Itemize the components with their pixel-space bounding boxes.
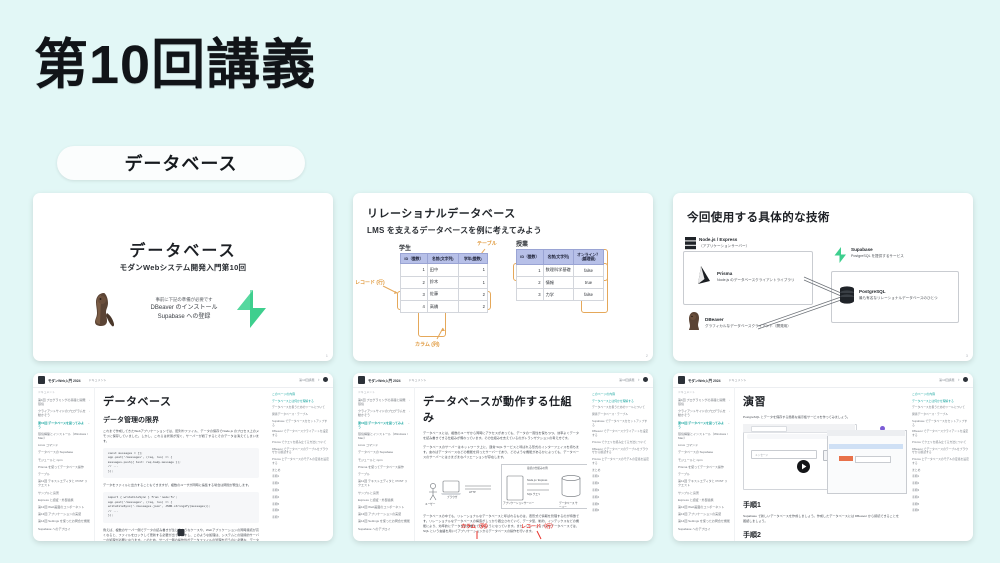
toc-item[interactable]: Supabase でデータベースをセットアップする — [912, 420, 969, 428]
table-row: 3佐藤2 — [401, 288, 488, 300]
doc3-section-title: 手順1 — [743, 500, 899, 510]
toc-item[interactable]: Supabase でデータベースをセットアップする — [272, 420, 329, 428]
slide1-subtitle: モダンWebシステム開発入門第10回 — [33, 262, 333, 273]
toc-item[interactable]: 手順4 — [912, 496, 969, 500]
site-logo-icon — [678, 376, 685, 384]
sidebar-item: データベースの Supabase — [38, 450, 90, 454]
table-course: ID（整数） 名前(文字列) オンライン？(論理値) 1数理科学基礎false … — [516, 249, 604, 301]
toc-item[interactable]: 手順1 — [272, 475, 329, 479]
slide2-title: リレーショナルデータベース — [367, 205, 516, 221]
sidebar-item: 環境構築とインストール（Windows / Mac） — [38, 432, 90, 440]
db-client-cell — [855, 456, 891, 463]
doc3-topbar: モダンWeb入門 2024 ドキュメント — [673, 373, 973, 388]
chevron-down-icon: ⌄ — [87, 421, 90, 429]
sidebar-item: Express と認証・外部連携 — [38, 498, 90, 502]
sidebar-item: Linux コマンド — [678, 443, 730, 447]
sidebar-item: サンプルと演習 — [678, 491, 730, 495]
doc3-h1: 演習 — [743, 393, 899, 409]
slide-overview-page: 第10回講義 データベース データベース モダンWebシステム開発入門第10回 … — [0, 0, 1000, 563]
avatar[interactable] — [963, 377, 968, 382]
toc-item[interactable]: DBeaver でデータベースクライアントを設定する — [912, 430, 969, 438]
doc1-paragraph: データをファイルに出力することもできますが、複数のユーザが同時に編集する場合は問… — [103, 483, 259, 488]
share-icon[interactable]: ⇧ — [957, 378, 960, 382]
toc-heading: このページの内容 — [272, 392, 329, 396]
prisma-logo — [695, 265, 712, 285]
sidebar-item: クライアントサイドのプログラムを動かそう› — [678, 409, 730, 417]
sidebar-item: 第13回 アプリケーションの実装 — [38, 512, 90, 516]
doc1-code-block: const messages = []; app.post('/messages… — [103, 448, 259, 479]
db-client-selected-row — [829, 444, 903, 449]
message-input[interactable]: メッセージ — [751, 450, 817, 459]
doc1-brand: モダンWeb入門 2024 — [48, 378, 81, 383]
toc-item[interactable]: 手順5 — [272, 503, 329, 507]
doc3-section-title: 手順2 — [743, 530, 899, 540]
slide-thumbnail-rdb[interactable]: リレーショナルデータベース LMS を支えるデータベースを例に考えてみよう テー… — [353, 193, 653, 361]
sidebar-item: Prisma を使ってデータベース操作 — [38, 465, 90, 469]
chevron-right-icon: › — [89, 409, 90, 417]
sidebar-item-active: 第10回 データベースを扱ってみよう⌄ — [678, 421, 730, 429]
toc-item[interactable]: 手順4 — [272, 496, 329, 500]
toc-item[interactable]: 手順1 — [912, 475, 969, 479]
browser-tab[interactable] — [751, 426, 787, 433]
sidebar-heading: ドキュメント — [38, 391, 90, 395]
red-annotation-arrows — [353, 373, 653, 541]
supabase-logo — [833, 247, 847, 263]
toc-item[interactable]: 手順7 — [272, 516, 329, 520]
doc1-sidebar[interactable]: ドキュメント 第1回 プログラミングの基礎と開発環境› クライアントサイドのプロ… — [33, 387, 95, 541]
toc-item[interactable]: 手順2 — [912, 482, 969, 486]
doc3-lead: PostgreSQL とデータを保存する簡易な掲示板サービスを作ってみましょう。 — [743, 415, 899, 420]
toc-item[interactable]: 手順2 — [272, 482, 329, 486]
slide-row-bottom: モダンWeb入門 2024 ドキュメント 第10回講義 ⇧ ドキュメント 第1回… — [33, 373, 973, 541]
sidebar-heading: ドキュメント — [678, 391, 730, 395]
sidebar-item: 第11回 テキストエディタと POST リクエスト — [678, 479, 730, 487]
page-title: 第10回講義 — [34, 34, 316, 96]
sidebar-item: テーブル — [38, 472, 90, 476]
site-logo-icon — [38, 376, 45, 384]
table-header-row: ID（整数） 名前(文字列) 学年(整数) — [401, 254, 488, 264]
postgresql-label: PostgreSQL 最も有名なリレーショナルデータベースのひとつ — [859, 289, 957, 301]
annotation-table: テーブル — [477, 240, 497, 247]
doc3-section-body: Supabase で新しいデータベースを作成しましょう。作成したデータベースには… — [743, 514, 899, 524]
sidebar-item: 第14回 Settings を使ったお問合せ機能 — [678, 519, 730, 523]
toc-item[interactable]: DBeaver でデータベースクライアントを設定する — [272, 430, 329, 438]
doc1-main: データベース データ管理の限界 これまで作成してきたWebアプリケーションでは、… — [95, 387, 267, 541]
sidebar-item: Supabase へのデプロイ — [678, 527, 730, 531]
prisma-label: Prisma Node.js のデータベースクライアントライブラリ — [717, 271, 809, 283]
node-express-label: Node.js / Express （アプリケーションサーバー） — [699, 237, 799, 249]
chevron-right-icon: › — [729, 398, 730, 406]
slide1-note-line3: Supabase への登録 — [129, 313, 239, 322]
doc-thumbnail-how-db-works[interactable]: モダンWeb入門 2024 ドキュメント 第10回講義 ⇧ ドキュメント 第1回… — [353, 373, 653, 541]
sidebar-item: 第12回 Web画面のコンポーネント — [678, 505, 730, 509]
beaver-icon — [687, 311, 702, 331]
toc-item[interactable]: Prisma とデータベースのモデルの定義を設定する — [272, 458, 329, 466]
slide3-page-number: 3 — [966, 353, 968, 358]
slide1-title: データベース — [33, 237, 333, 261]
sidebar-item: クライアントサイドのプログラムを動かそう› — [38, 409, 90, 417]
slide-thumbnail-title[interactable]: データベース モダンWebシステム開発入門第10回 事前に下記の準備が必要です … — [33, 193, 333, 361]
toc-item[interactable]: 手順3 — [912, 489, 969, 493]
sidebar-item: 環境構築とインストール（Windows / Mac） — [678, 432, 730, 440]
table-caption-student: 学生 — [399, 243, 411, 252]
slide-thumbnail-tech[interactable]: 今回使用する具体的な技術 — [673, 193, 973, 361]
doc1-code-block: import { writeFileSync } from 'node:fs';… — [103, 492, 259, 523]
toc-item[interactable]: データベースを扱うためのツールについて — [912, 406, 969, 410]
sidebar-item: モジュールと npm — [678, 458, 730, 462]
slide1-note-line2: DBeaver のインストール — [129, 304, 239, 313]
doc1-topbar: モダンWeb入門 2024 ドキュメント — [33, 373, 333, 388]
server-icon — [685, 237, 696, 250]
toc-item[interactable]: Prisma とデータベースのモデルの定義を設定する — [912, 458, 969, 466]
table-row: 1数理科学基礎false — [517, 264, 604, 276]
toc-item[interactable]: まとめ — [912, 469, 969, 473]
toc-item[interactable]: 関係データベース・テーブル — [912, 413, 969, 417]
topic-badge: データベース — [57, 146, 305, 180]
sidebar-item: テーブル — [678, 472, 730, 476]
footer-button-icon[interactable] — [178, 529, 185, 536]
toc-item[interactable]: まとめ — [272, 469, 329, 473]
toc-item[interactable]: データベースとは何かを理解する — [272, 400, 329, 404]
sidebar-item: 第12回 Web画面のコンポーネント — [38, 505, 90, 509]
supabase-label: Supabase PostgreSQL を提供するサービス — [851, 247, 947, 259]
doc3-brand: モダンWeb入門 2024 — [688, 378, 721, 383]
share-icon[interactable]: ⇧ — [317, 378, 320, 382]
annotation-column: カラム (列) — [415, 341, 440, 348]
doc3-media[interactable]: メッセージ 送信 — [743, 424, 899, 494]
toc-item[interactable]: 手順6 — [272, 509, 329, 513]
toc-heading: このページの内容 — [912, 392, 969, 396]
chevron-right-icon: › — [729, 409, 730, 417]
doc-thumbnail-database[interactable]: モダンWeb入門 2024 ドキュメント 第10回講義 ⇧ ドキュメント 第1回… — [33, 373, 333, 541]
doc3-sidebar[interactable]: ドキュメント 第1回 プログラミングの基礎と開発環境› クライアントサイドのプロ… — [673, 387, 735, 541]
dbeaver-label: DBeaver グラフィカルなデータベースクライアント（開発用） — [705, 317, 803, 329]
sidebar-item: Express と認証・外部連携 — [678, 498, 730, 502]
table-header-row: ID（整数） 名前(文字列) オンライン？(論理値) — [517, 250, 604, 265]
doc1-footer — [95, 529, 267, 539]
toc-item[interactable]: DBeaver でデータベースのテーブルをブラウザから確認する — [272, 448, 329, 456]
toc-item[interactable]: 関係データベース・テーブル — [272, 413, 329, 417]
table-row: 3力学false — [517, 289, 604, 301]
avatar[interactable] — [323, 377, 328, 382]
db-client-cell-highlight — [839, 456, 853, 461]
doc3-topnav[interactable]: ドキュメント — [729, 378, 747, 382]
sidebar-item: 第1回 プログラミングの基礎と開発環境› — [38, 398, 90, 406]
doc1-h1: データベース — [103, 393, 259, 409]
slide1-note-line1: 事前に下記の準備が必要です — [129, 297, 239, 304]
supabase-logo — [233, 289, 269, 329]
slide-grid: データベース モダンWebシステム開発入門第10回 事前に下記の準備が必要です … — [33, 193, 973, 541]
table-caption-course: 授業 — [516, 239, 528, 248]
sidebar-item: 第14回 Settings を使ったお問合せ機能 — [38, 519, 90, 523]
toc-item[interactable]: 手順5 — [912, 503, 969, 507]
slide-row-top: データベース モダンWebシステム開発入門第10回 事前に下記の準備が必要です … — [33, 193, 973, 361]
doc1-topnav[interactable]: ドキュメント — [89, 378, 107, 382]
chevron-down-icon: ⌄ — [727, 421, 730, 429]
sidebar-item: データベースの Supabase — [678, 450, 730, 454]
sidebar-item: Supabase へのデプロイ — [38, 527, 90, 531]
beaver-icon — [91, 291, 117, 327]
doc3-toc[interactable]: このページの内容 データベースとは何かを理解する データベースを扱うためのツール… — [907, 387, 973, 541]
toc-item[interactable]: 手順3 — [272, 489, 329, 493]
chevron-right-icon: › — [89, 398, 90, 406]
slide2-subtitle: LMS を支えるデータベースを例に考えてみよう — [367, 225, 542, 236]
doc3-main: 演習 PostgreSQL とデータを保存する簡易な掲示板サービスを作ってみまし… — [735, 387, 907, 541]
toc-item[interactable]: データベースを扱うためのツールについて — [272, 406, 329, 410]
doc1-topright: 第10回講義 ⇧ — [299, 377, 328, 382]
doc3-topright: 第10回講義 ⇧ — [939, 377, 968, 382]
doc-thumbnail-exercise[interactable]: モダンWeb入門 2024 ドキュメント 第10回講義 ⇧ ドキュメント 第1回… — [673, 373, 973, 541]
table-student: ID（整数） 名前(文字列) 学年(整数) 1田中1 2鈴木1 3佐藤2 4高橋… — [400, 253, 488, 313]
sidebar-item: 第1回 プログラミングの基礎と開発環境› — [678, 398, 730, 406]
sidebar-item: サンプルと演習 — [38, 491, 90, 495]
slide2-page-number: 2 — [646, 353, 648, 358]
toc-item[interactable]: DBeaver でデータベースのテーブルをブラウザから確認する — [912, 448, 969, 456]
toc-item[interactable]: データベースとは何かを理解する — [912, 400, 969, 404]
db-client-toolbar — [827, 430, 905, 436]
sidebar-item: 第13回 アプリケーションの実装 — [678, 512, 730, 516]
toc-item[interactable]: Prisma でクエリを組み立てる方法について — [272, 441, 329, 445]
play-icon[interactable] — [797, 460, 810, 473]
table-row: 4高橋2 — [401, 300, 488, 312]
doc1-toc[interactable]: このページの内容 データベースとは何かを理解する データベースを扱うためのツール… — [267, 387, 333, 541]
sidebar-item: モジュールと npm — [38, 458, 90, 462]
doc1-h2: データ管理の限界 — [103, 415, 259, 425]
toc-item[interactable]: 手順6 — [912, 509, 969, 513]
sidebar-item: Linux コマンド — [38, 443, 90, 447]
table-row: 2情報true — [517, 276, 604, 288]
sidebar-item: Prisma を使ってデータベース操作 — [678, 465, 730, 469]
slide1-page-number: 1 — [326, 353, 328, 358]
annotation-record: レコード (行) — [355, 279, 385, 286]
toc-item[interactable]: Prisma でクエリを組み立てる方法について — [912, 441, 969, 445]
sidebar-item-active: 第10回 データベースを扱ってみよう⌄ — [38, 421, 90, 429]
doc1-paragraph: これまで作成してきたWebアプリケーションでは、配列やファイル、データの保存でN… — [103, 429, 259, 444]
slide1-note: 事前に下記の準備が必要です DBeaver のインストール Supabase へ… — [129, 297, 239, 322]
sidebar-item: 第11回 テキストエディタと POST リクエスト — [38, 479, 90, 487]
table-row: 2鈴木1 — [401, 276, 488, 288]
table-row: 1田中1 — [401, 264, 488, 276]
database-icon — [839, 286, 855, 304]
